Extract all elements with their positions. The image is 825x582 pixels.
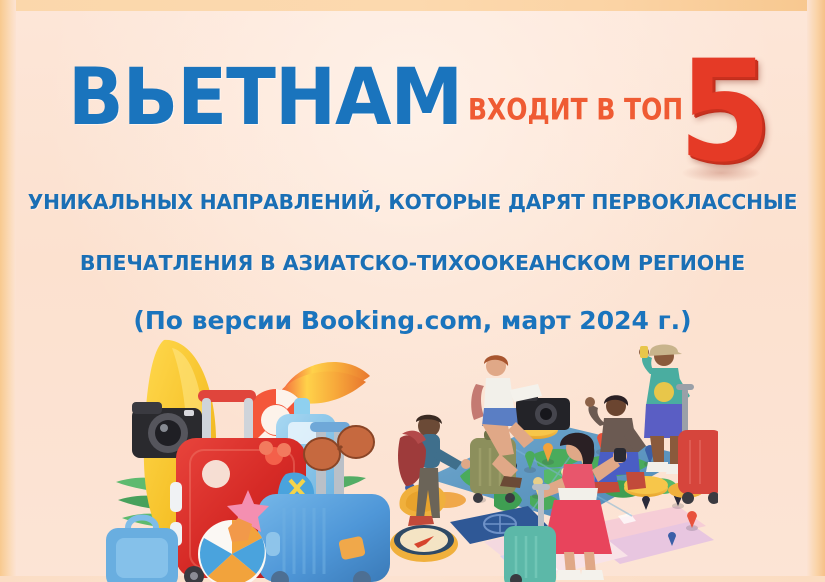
poster-canvas: ВЬЕТНАМ ВХОДИТ В ТОП 5 УНИКАЛЬНЫХ НАПРАВ… <box>0 0 825 582</box>
subtitle-line-1: УНИКАЛЬНЫХ НАПРАВЛЕНИЙ, КОТОРЫЕ ДАРЯТ ПЕ… <box>6 190 819 214</box>
top-edge-band <box>0 0 825 11</box>
rank-number-group: 5 <box>668 36 778 176</box>
subtitle-line-2: ВПЕЧАТЛЕНИЯ В АЗИАТСКО-ТИХООКЕАНСКОМ РЕГ… <box>0 251 825 275</box>
rank-label: ВХОДИТ В ТОП <box>468 96 683 125</box>
travel-luggage-beach-illustration <box>98 332 398 582</box>
headline-row: ВЬЕТНАМ ВХОДИТ В ТОП 5 <box>0 36 825 172</box>
country-title: ВЬЕТНАМ <box>68 58 462 137</box>
travelers-world-map-illustration <box>388 330 718 582</box>
rank-number: 5 <box>678 42 772 182</box>
